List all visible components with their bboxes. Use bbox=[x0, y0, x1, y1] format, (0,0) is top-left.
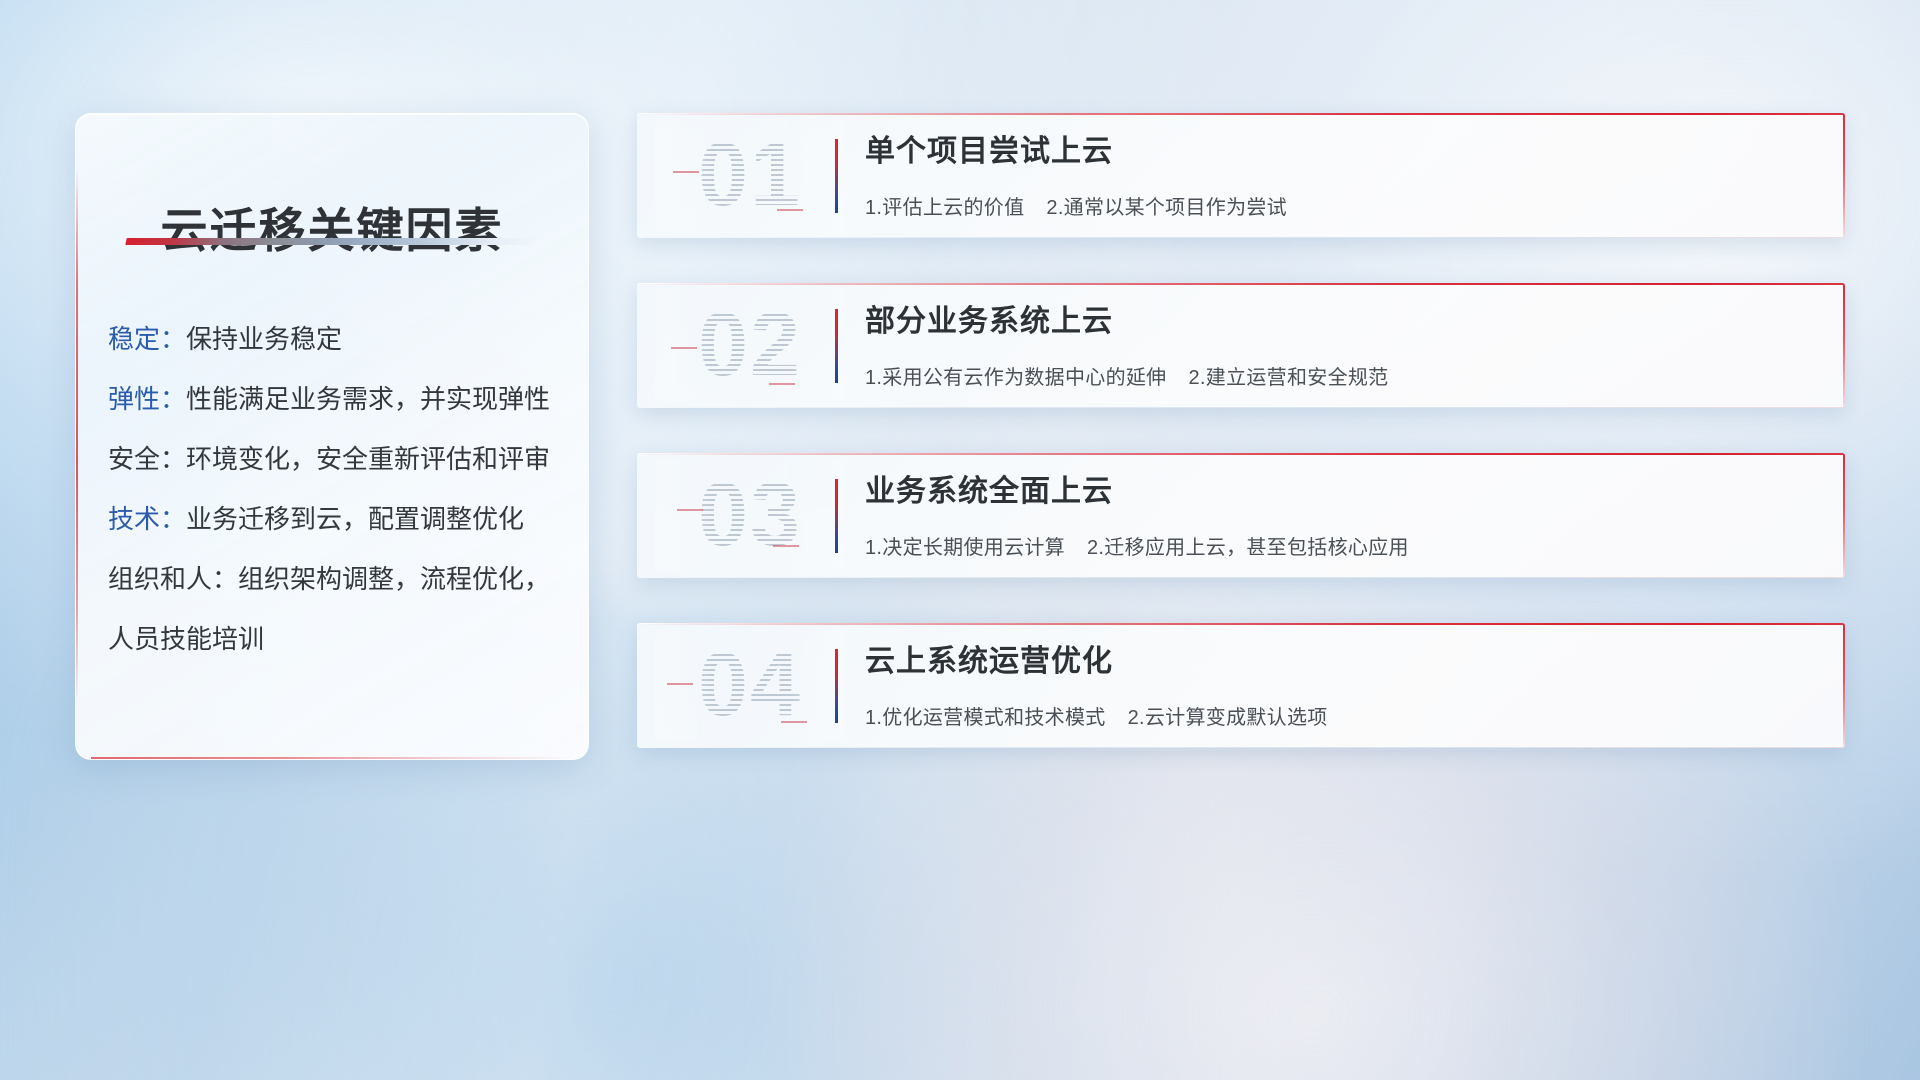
step-number-03: 03 bbox=[655, 459, 845, 571]
step-subtitle: 1.决定长期使用云计算2.迁移应用上云，甚至包括核心应用 bbox=[865, 533, 1805, 563]
step-point-1: 1.采用公有云作为数据中心的延伸 bbox=[865, 367, 1166, 389]
card-top-accent-line bbox=[637, 113, 1845, 115]
step-title: 部分业务系统上云 bbox=[865, 301, 1805, 343]
page-title: 云迁移关键因素 bbox=[76, 192, 588, 261]
factor-item-elasticity: 弹性：性能满足业务需求，并实现弹性 bbox=[108, 369, 566, 429]
factor-label: 稳定： bbox=[108, 324, 186, 354]
factor-text: 保持业务稳定 bbox=[186, 324, 342, 354]
card-divider-line bbox=[835, 649, 838, 723]
factor-text: 环境变化，安全重新评估和评审 bbox=[186, 444, 550, 474]
step-point-1: 1.评估上云的价值 bbox=[865, 197, 1024, 219]
step-number-02: 02 bbox=[655, 289, 845, 401]
ghost-tick-marker bbox=[769, 383, 795, 385]
card-body: 业务系统全面上云 1.决定长期使用云计算2.迁移应用上云，甚至包括核心应用 bbox=[865, 471, 1805, 578]
card-right-accent-line bbox=[1843, 453, 1845, 578]
card-top-accent-line bbox=[637, 283, 1845, 285]
card-right-accent-line bbox=[1843, 283, 1845, 408]
slide-canvas: 云迁移关键因素 稳定：保持业务稳定 弹性：性能满足业务需求，并实现弹性 安全：环… bbox=[0, 0, 1920, 1080]
card-body: 部分业务系统上云 1.采用公有云作为数据中心的延伸2.建立运营和安全规范 bbox=[865, 301, 1805, 408]
card-divider-line bbox=[835, 309, 838, 383]
step-title: 业务系统全面上云 bbox=[865, 471, 1805, 513]
step-point-1: 1.决定长期使用云计算 bbox=[865, 537, 1065, 559]
factor-text: 性能满足业务需求，并实现弹性 bbox=[186, 384, 550, 414]
step-point-2: 2.通常以某个项目作为尝试 bbox=[1046, 197, 1287, 219]
step-point-2: 2.云计算变成默认选项 bbox=[1128, 707, 1328, 729]
step-number-04: 04 bbox=[655, 629, 845, 741]
factor-item-stability: 稳定：保持业务稳定 bbox=[108, 309, 566, 369]
ghost-tick-marker bbox=[781, 721, 807, 723]
step-title: 单个项目尝试上云 bbox=[865, 131, 1805, 173]
card-top-accent-line bbox=[637, 623, 1845, 625]
step-subtitle: 1.采用公有云作为数据中心的延伸2.建立运营和安全规范 bbox=[865, 363, 1805, 393]
step-subtitle: 1.优化运营模式和技术模式2.云计算变成默认选项 bbox=[865, 703, 1805, 733]
factor-label: 安全： bbox=[108, 444, 186, 474]
card-divider-line bbox=[835, 479, 838, 553]
ghost-tick-marker bbox=[667, 683, 693, 685]
step-card-04[interactable]: 04 云上系统运营优化 1.优化运营模式和技术模式2.云计算变成默认选项 bbox=[637, 623, 1845, 748]
key-factors-panel: 云迁移关键因素 稳定：保持业务稳定 弹性：性能满足业务需求，并实现弹性 安全：环… bbox=[75, 113, 589, 760]
step-point-2: 2.建立运营和安全规范 bbox=[1188, 367, 1388, 389]
title-underline-gradient bbox=[125, 238, 538, 245]
factor-item-organization-people: 组织和人：组织架构调整，流程优化，人员技能培训 bbox=[108, 549, 566, 669]
step-point-2: 2.迁移应用上云，甚至包括核心应用 bbox=[1087, 537, 1409, 559]
panel-bottom-accent-line bbox=[91, 757, 572, 759]
ghost-tick-marker bbox=[677, 509, 703, 511]
card-body: 云上系统运营优化 1.优化运营模式和技术模式2.云计算变成默认选项 bbox=[865, 641, 1805, 748]
migration-steps-list: 01 单个项目尝试上云 1.评估上云的价值2.通常以某个项目作为尝试 02 部分… bbox=[637, 113, 1845, 793]
ghost-tick-marker bbox=[777, 209, 803, 211]
step-number-01: 01 bbox=[655, 119, 845, 231]
card-divider-line bbox=[835, 139, 838, 213]
card-top-accent-line bbox=[637, 453, 1845, 455]
factor-item-security: 安全：环境变化，安全重新评估和评审 bbox=[108, 429, 566, 489]
ghost-tick-marker bbox=[673, 171, 699, 173]
factor-label: 弹性： bbox=[108, 384, 186, 414]
step-card-03[interactable]: 03 业务系统全面上云 1.决定长期使用云计算2.迁移应用上云，甚至包括核心应用 bbox=[637, 453, 1845, 578]
ghost-tick-marker bbox=[671, 347, 697, 349]
factor-list: 稳定：保持业务稳定 弹性：性能满足业务需求，并实现弹性 安全：环境变化，安全重新… bbox=[108, 309, 566, 669]
step-point-1: 1.优化运营模式和技术模式 bbox=[865, 707, 1106, 729]
step-card-02[interactable]: 02 部分业务系统上云 1.采用公有云作为数据中心的延伸2.建立运营和安全规范 bbox=[637, 283, 1845, 408]
step-subtitle: 1.评估上云的价值2.通常以某个项目作为尝试 bbox=[865, 193, 1805, 223]
step-card-01[interactable]: 01 单个项目尝试上云 1.评估上云的价值2.通常以某个项目作为尝试 bbox=[637, 113, 1845, 238]
card-right-accent-line bbox=[1843, 623, 1845, 748]
card-body: 单个项目尝试上云 1.评估上云的价值2.通常以某个项目作为尝试 bbox=[865, 131, 1805, 238]
factor-label: 技术： bbox=[108, 504, 186, 534]
ghost-tick-marker bbox=[773, 545, 799, 547]
step-title: 云上系统运营优化 bbox=[865, 641, 1805, 683]
factor-item-technology: 技术：业务迁移到云，配置调整优化 bbox=[108, 489, 566, 549]
card-right-accent-line bbox=[1843, 113, 1845, 238]
factor-text: 业务迁移到云，配置调整优化 bbox=[186, 504, 524, 534]
factor-label: 组织和人： bbox=[108, 564, 238, 594]
